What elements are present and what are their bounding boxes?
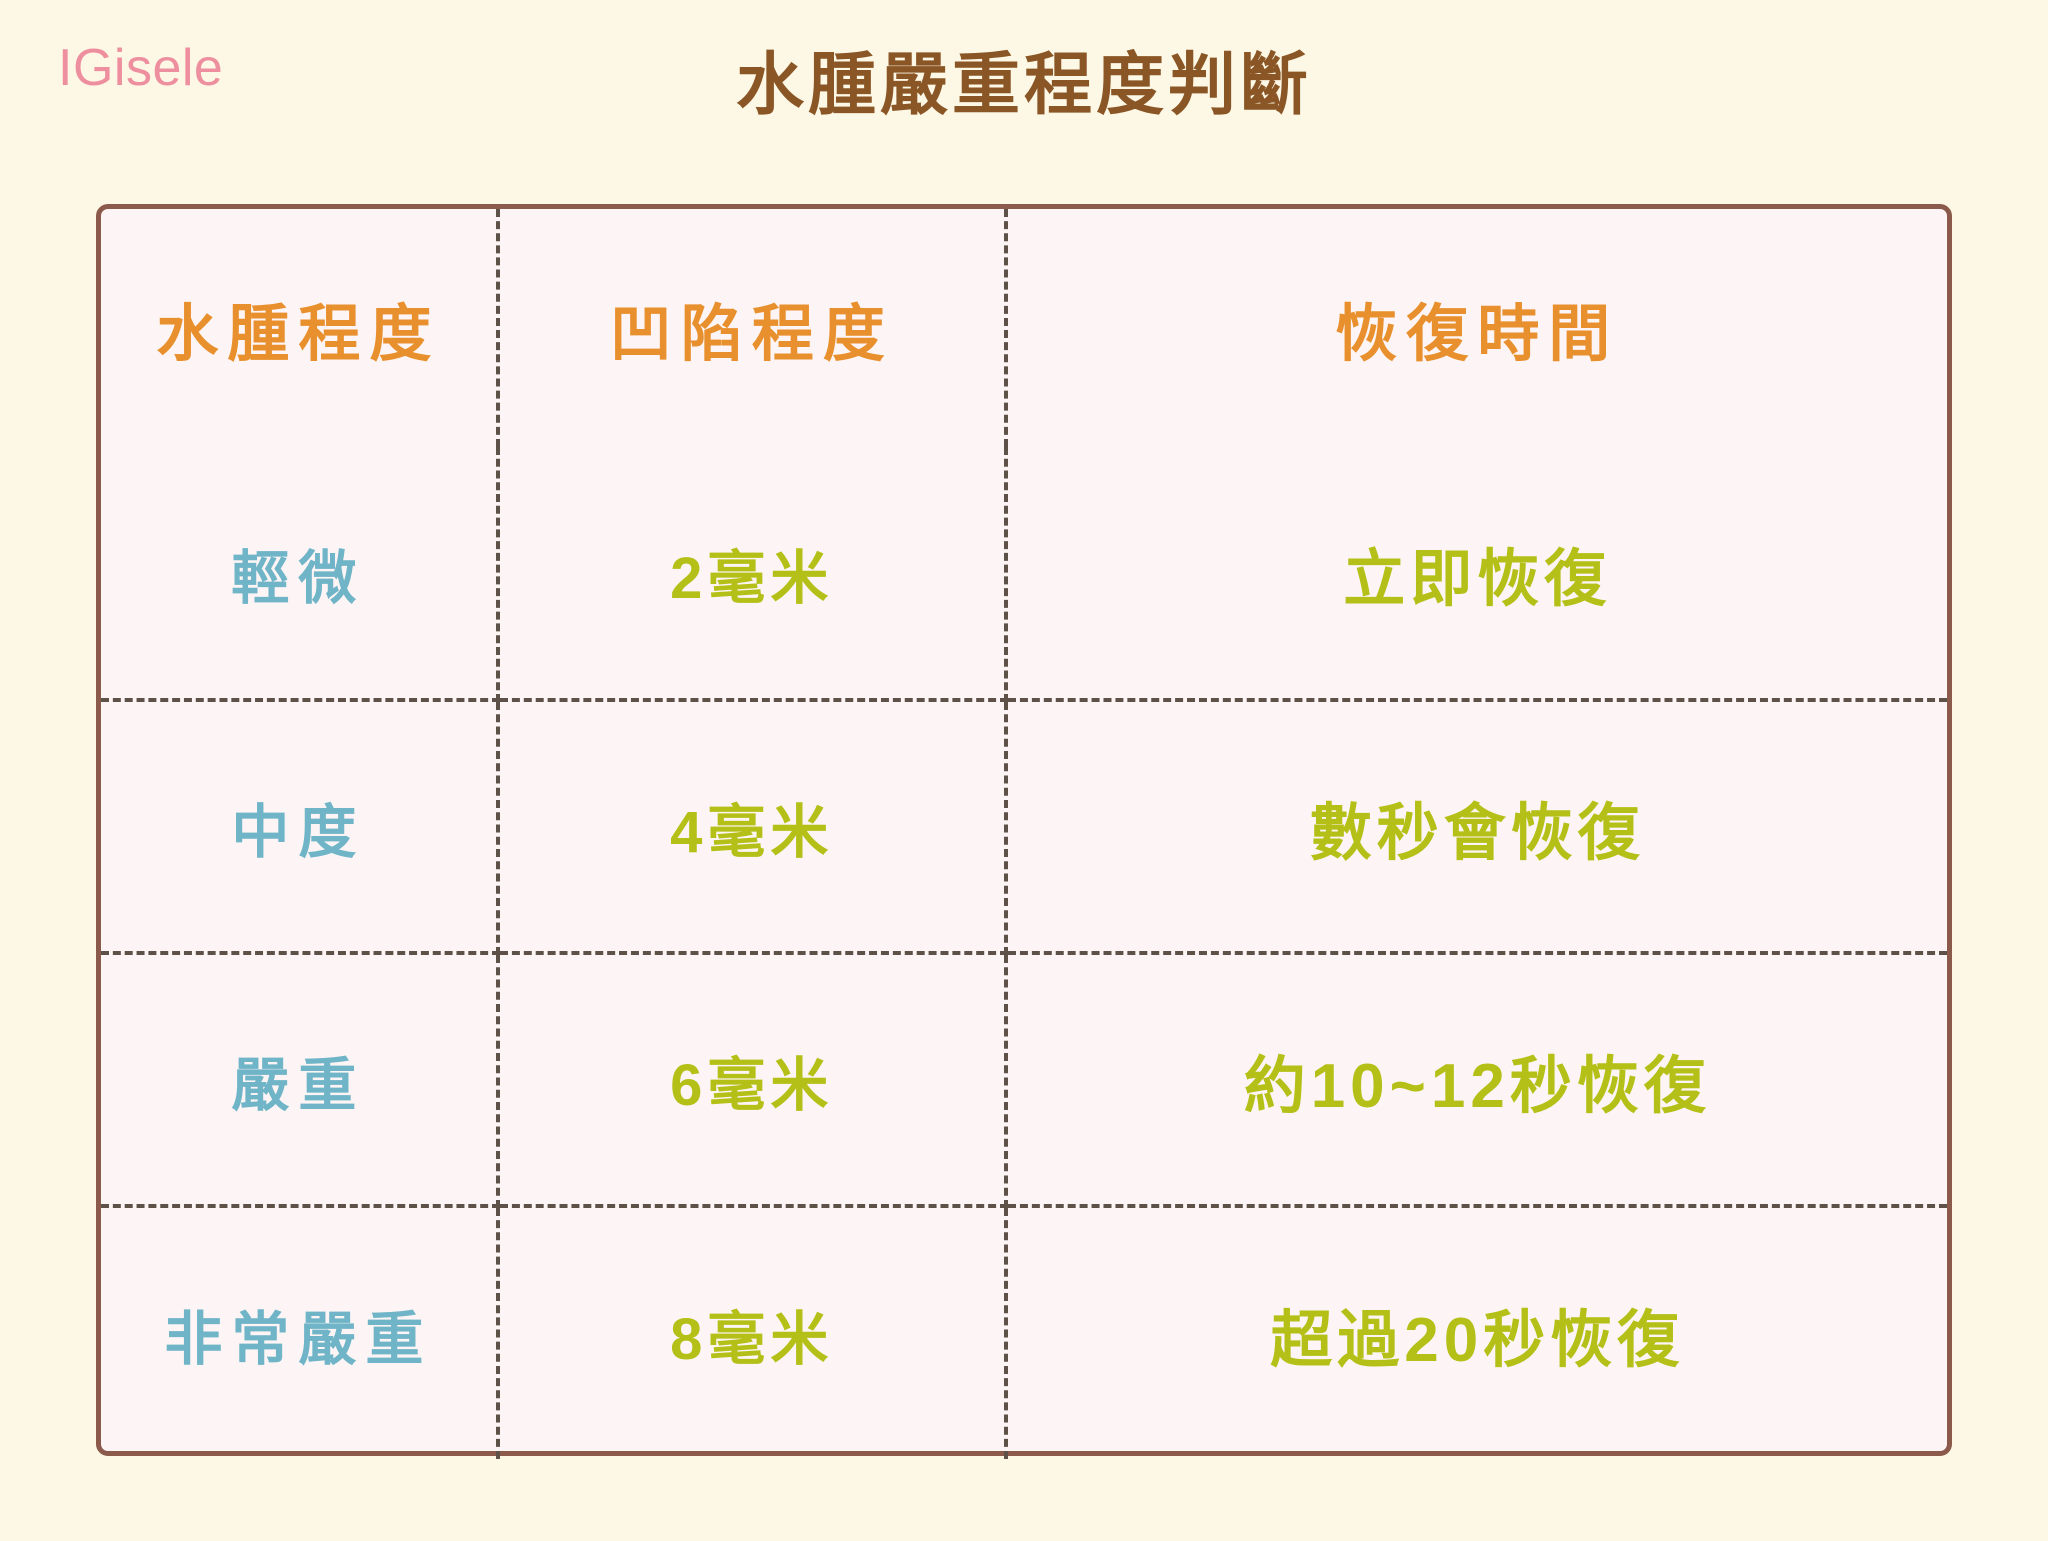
table-header: 水腫程度 凹陷程度 恢復時間 (101, 209, 1947, 447)
cell-recovery: 約10~12秒恢復 (1006, 953, 1947, 1206)
table-row: 嚴重 6毫米 約10~12秒恢復 (101, 953, 1947, 1206)
cell-grade: 中度 (101, 700, 498, 953)
cell-depth: 6毫米 (498, 953, 1006, 1206)
page-title: 水腫嚴重程度判斷 (0, 46, 2048, 124)
column-header-grade: 水腫程度 (101, 209, 498, 447)
table-row: 非常嚴重 8毫米 超過20秒恢復 (101, 1206, 1947, 1459)
table-body: 輕微 2毫米 立即恢復 中度 4毫米 數秒會恢復 嚴重 6毫米 約10~12秒恢… (101, 447, 1947, 1459)
table-header-row: 水腫程度 凹陷程度 恢復時間 (101, 209, 1947, 447)
cell-depth: 4毫米 (498, 700, 1006, 953)
cell-depth: 2毫米 (498, 447, 1006, 700)
edema-grade-table-container: 水腫程度 凹陷程度 恢復時間 輕微 2毫米 立即恢復 中度 4毫米 數秒會恢復 … (96, 204, 1952, 1456)
edema-grade-table: 水腫程度 凹陷程度 恢復時間 輕微 2毫米 立即恢復 中度 4毫米 數秒會恢復 … (101, 209, 1947, 1459)
cell-recovery: 數秒會恢復 (1006, 700, 1947, 953)
cell-recovery: 超過20秒恢復 (1006, 1206, 1947, 1459)
table-row: 中度 4毫米 數秒會恢復 (101, 700, 1947, 953)
cell-grade: 非常嚴重 (101, 1206, 498, 1459)
column-header-recovery: 恢復時間 (1006, 209, 1947, 447)
table-row: 輕微 2毫米 立即恢復 (101, 447, 1947, 700)
cell-grade: 嚴重 (101, 953, 498, 1206)
cell-depth: 8毫米 (498, 1206, 1006, 1459)
cell-grade: 輕微 (101, 447, 498, 700)
cell-recovery: 立即恢復 (1006, 447, 1947, 700)
column-header-depth: 凹陷程度 (498, 209, 1006, 447)
